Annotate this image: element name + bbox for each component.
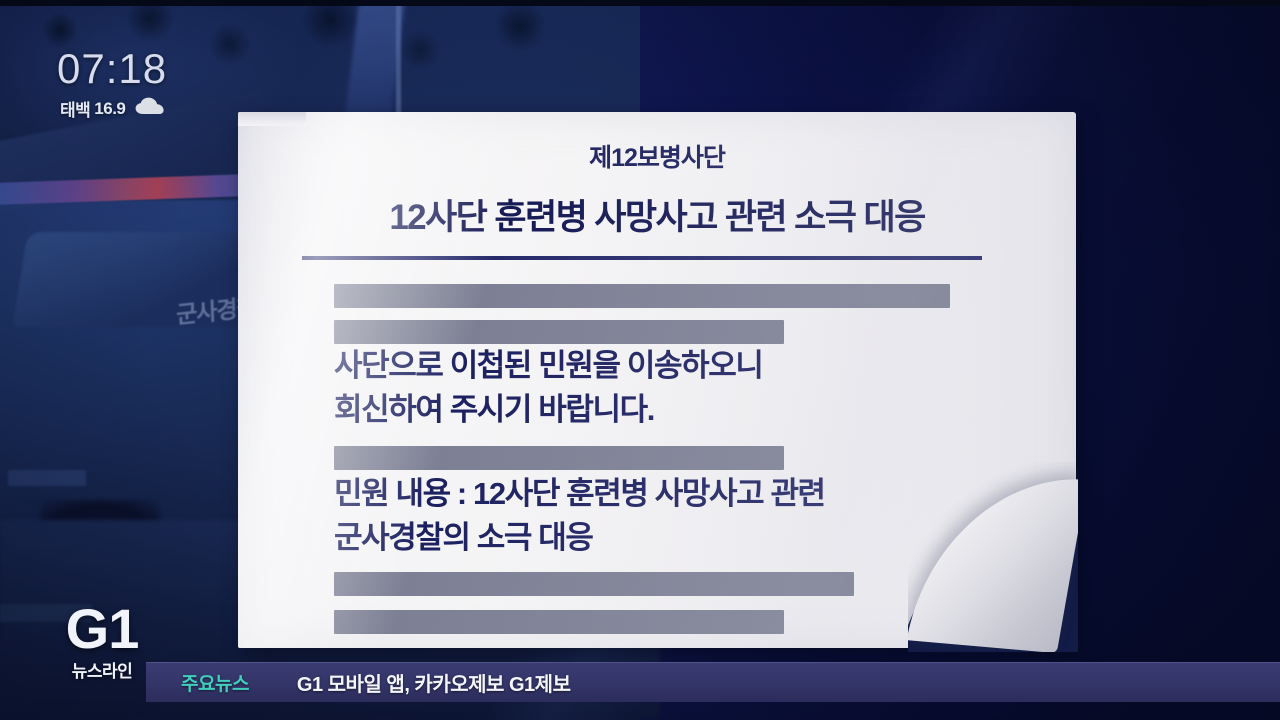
- news-ticker: 주요뉴스 G1 모바일 앱, 카카오제보 G1제보: [146, 662, 1280, 702]
- weather-temperature: 16.9: [94, 99, 125, 119]
- channel-logo-block: G1 뉴스라인: [54, 602, 150, 682]
- document-subtitle: 제12보병사단: [238, 138, 1076, 174]
- document-title: 12사단 훈련병 사망사고 관련 소극 대응: [238, 189, 1076, 240]
- document-top-left-curl: [238, 112, 306, 126]
- clock-weather-block: 07:18 태백 16.9: [57, 48, 167, 121]
- cloud-icon: [135, 97, 165, 120]
- document-paragraph-complaint: 민원 내용 : 12사단 훈련병 사망사고 관련 군사경찰의 소극 대응: [334, 472, 825, 560]
- broadcast-screen: 군사경찰 07:18 태백 16.9 제12보병사단 12사단 훈련병 사망사고…: [0, 0, 1280, 720]
- redacted-bar: [334, 446, 784, 470]
- redacted-bar: [334, 284, 950, 308]
- document-divider: [302, 256, 982, 260]
- ticker-headline: G1 모바일 앱, 카카오제보 G1제보: [297, 668, 571, 697]
- document-card: 제12보병사단 12사단 훈련병 사망사고 관련 소극 대응 사단으로 이첩된 …: [238, 112, 1078, 652]
- ticker-category-label: 주요뉴스: [181, 669, 249, 696]
- document-paper: 제12보병사단 12사단 훈련병 사망사고 관련 소극 대응 사단으로 이첩된 …: [238, 112, 1076, 648]
- program-name: 뉴스라인: [54, 657, 150, 682]
- clock-time: 07:18: [57, 48, 167, 90]
- document-paragraph-notice: 사단으로 이첩된 민원을 이송하오니 회신하여 주시기 바랍니다.: [334, 344, 762, 432]
- weather-location: 태백: [60, 96, 90, 121]
- redacted-bar: [334, 320, 784, 344]
- weather-row: 태백 16.9: [60, 96, 167, 121]
- redacted-bar: [334, 610, 784, 634]
- channel-logo: G1: [54, 602, 150, 655]
- top-letterbox-bar: [0, 0, 1280, 6]
- redacted-bar: [334, 572, 854, 596]
- document-content: 제12보병사단 12사단 훈련병 사망사고 관련 소극 대응 사단으로 이첩된 …: [238, 112, 1076, 648]
